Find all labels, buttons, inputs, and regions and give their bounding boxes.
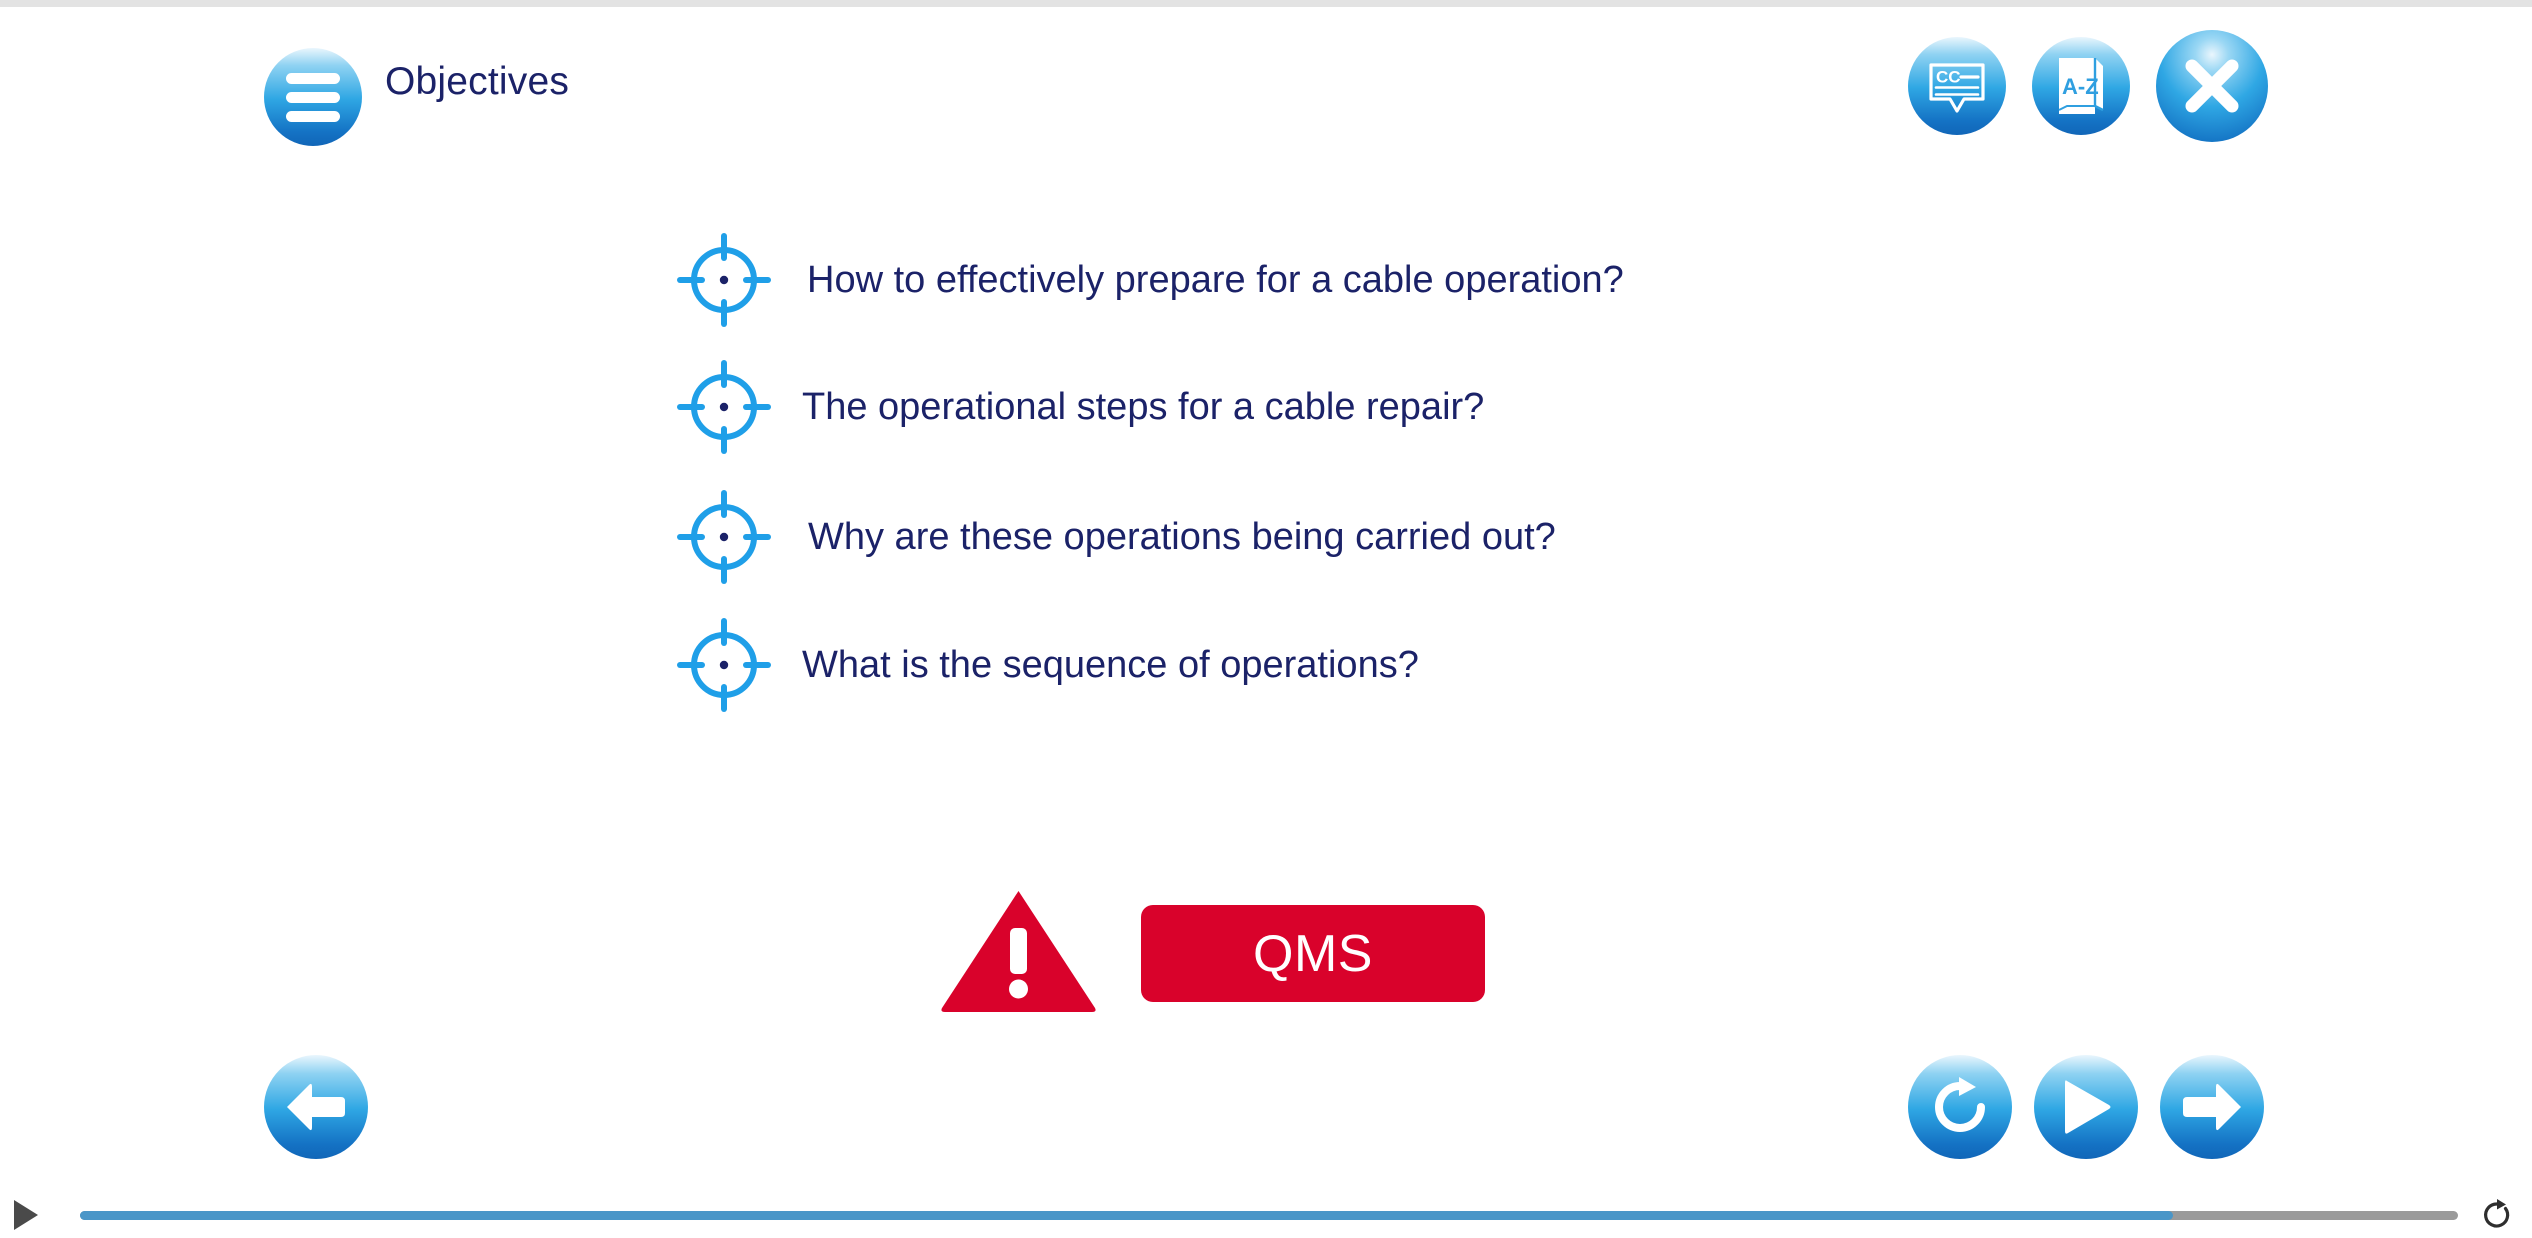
objective-item: The operational steps for a cable repair… <box>672 355 1484 459</box>
page-title: Objectives <box>385 60 569 104</box>
crosshair-target-icon <box>672 228 776 332</box>
crosshair-target-icon <box>672 485 776 589</box>
crosshair-target-icon <box>672 613 776 717</box>
close-button[interactable] <box>2156 30 2268 142</box>
svg-text:A-Z: A-Z <box>2062 74 2099 99</box>
close-x-icon <box>2179 53 2245 119</box>
svg-text:CC: CC <box>1936 68 1961 87</box>
objective-label: The operational steps for a cable repair… <box>802 388 1484 426</box>
media-player-bar <box>0 1192 2532 1238</box>
warning-triangle-icon <box>940 888 1097 1013</box>
replay-button[interactable] <box>1908 1055 2012 1159</box>
hamburger-menu-icon[interactable] <box>264 48 362 146</box>
player-play-button[interactable] <box>14 1200 38 1230</box>
closed-captions-button[interactable]: CC <box>1908 37 2006 135</box>
play-button[interactable] <box>2034 1055 2138 1159</box>
seek-bar[interactable] <box>80 1211 2458 1220</box>
a-z-book-icon: A-Z <box>2051 54 2111 118</box>
next-slide-button[interactable] <box>2160 1055 2264 1159</box>
arrow-left-icon <box>283 1077 349 1137</box>
objective-label: What is the sequence of operations? <box>802 646 1419 684</box>
refresh-circular-arrow-icon <box>1928 1075 1992 1139</box>
glossary-button[interactable]: A-Z <box>2032 37 2130 135</box>
objective-item: How to effectively prepare for a cable o… <box>672 228 1624 332</box>
objective-label: How to effectively prepare for a cable o… <box>807 261 1624 299</box>
arrow-right-icon <box>2179 1077 2245 1137</box>
play-triangle-icon <box>2057 1076 2115 1138</box>
qms-button[interactable]: QMS <box>1141 905 1485 1002</box>
cc-icon: CC <box>1926 55 1988 117</box>
player-replay-button[interactable] <box>2480 1198 2514 1232</box>
previous-slide-button[interactable] <box>264 1055 368 1159</box>
objective-item: What is the sequence of operations? <box>672 613 1419 717</box>
objective-label: Why are these operations being carried o… <box>808 518 1556 556</box>
objective-item: Why are these operations being carried o… <box>672 485 1556 589</box>
menu-bars <box>286 65 340 130</box>
top-edge-strip <box>0 0 2532 7</box>
seek-progress-fill <box>80 1211 2173 1220</box>
crosshair-target-icon <box>672 355 776 459</box>
